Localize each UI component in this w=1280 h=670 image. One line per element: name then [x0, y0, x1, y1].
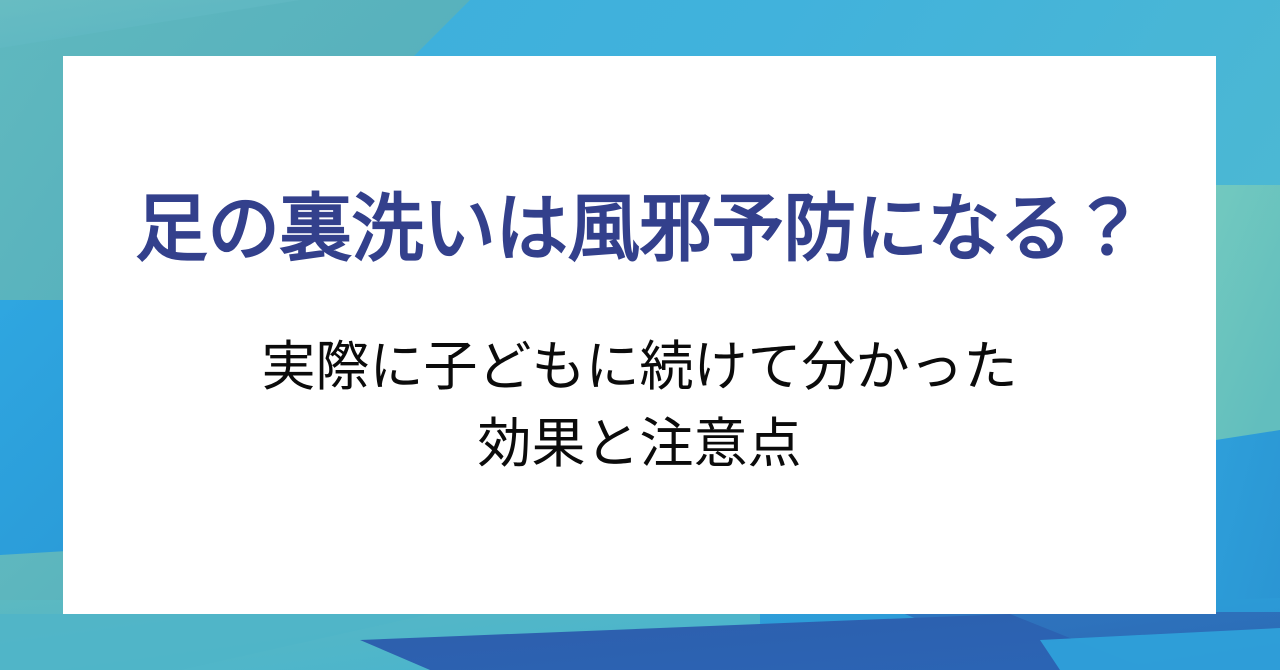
content-card: 足の裏洗いは風邪予防になる？ 実際に子どもに続けて分かった 効果と注意点 — [63, 56, 1216, 614]
page-title: 足の裏洗いは風邪予防になる？ — [135, 187, 1143, 273]
subtitle-line-2: 効果と注意点 — [262, 406, 1018, 483]
eyecatch-canvas: 足の裏洗いは風邪予防になる？ 実際に子どもに続けて分かった 効果と注意点 — [0, 0, 1280, 670]
card-inner: 足の裏洗いは風邪予防になる？ 実際に子どもに続けて分かった 効果と注意点 — [63, 187, 1216, 482]
page-subtitle: 実際に子どもに続けて分かった 効果と注意点 — [262, 329, 1018, 482]
subtitle-line-1: 実際に子どもに続けて分かった — [262, 329, 1018, 406]
shape-right-teal-light-band-2 — [1216, 185, 1280, 440]
